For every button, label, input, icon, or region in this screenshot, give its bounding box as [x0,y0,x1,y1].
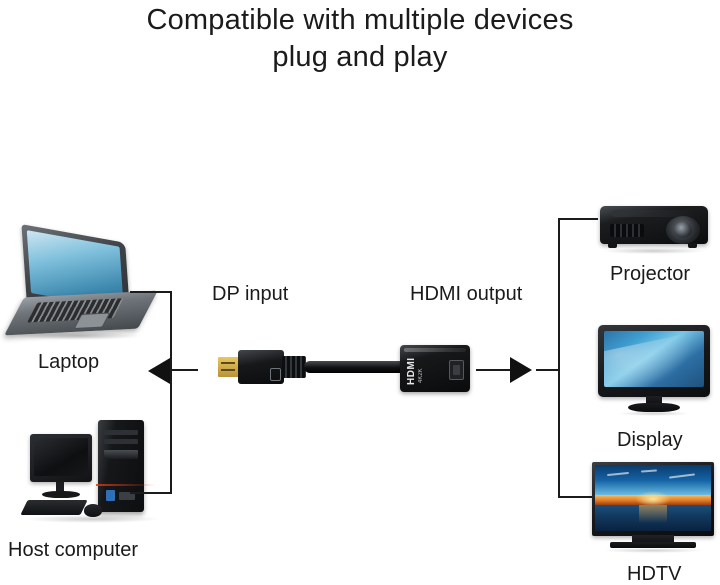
displayport-logo-icon [270,368,281,381]
adapter-spec-text: 4K2K [418,355,428,383]
hdmi-female-port [449,360,464,380]
monitor-wallpaper-highlight [604,331,704,387]
projector-shadow [602,248,706,254]
desktop-monitor-foot [42,491,80,498]
arrow-right-icon [510,357,532,383]
displayport-plug [238,350,284,384]
desktop-monitor-screen [34,438,88,476]
diagram-canvas: Compatible with multiple devices plug an… [0,0,720,585]
projector-icon [596,198,714,256]
tower-badge [106,490,115,501]
title-line-2: plug and play [0,39,720,76]
projector-vent [610,224,644,237]
tv-screen [595,465,711,531]
tv-bezel [592,462,714,536]
arrow-left-icon [148,358,170,384]
label-hdmi-output: HDMI output [410,282,522,306]
page-title: Compatible with multiple devices plug an… [0,2,720,76]
source-bracket-branch-laptop [130,291,172,293]
tv-shadow [602,548,704,553]
destination-bracket-branch-projector [558,218,598,220]
destination-bracket-vertical [558,218,560,498]
hdmi-adapter-body: HDMI 4K2K [400,345,470,392]
monitor-screen [604,331,704,387]
label-dp-input: DP input [212,282,288,306]
projector-body [600,206,708,244]
adapter-highlight [404,348,466,352]
laptop-keyboard [27,298,124,322]
dp-pin-row [221,362,235,364]
title-line-1: Compatible with multiple devices [0,2,720,39]
monitor-bezel [598,325,710,397]
input-arrow-tail [170,369,198,371]
television-icon [592,462,716,554]
destination-bracket [536,212,598,504]
adapter-cable [304,361,408,373]
cable-strain-relief [282,356,306,378]
desktop-shadow [24,515,160,523]
label-laptop: Laptop [38,350,99,374]
projector-lens-ring [666,216,700,244]
destination-bracket-stem [536,369,560,371]
label-hdtv: HDTV [627,562,681,585]
displayport-contacts [218,357,240,377]
source-bracket-vertical [170,291,172,494]
projector-lens [674,222,692,238]
label-projector: Projector [610,262,690,286]
label-display: Display [617,428,683,452]
source-bracket-branch-host [130,492,172,494]
label-host-computer: Host computer [8,538,138,562]
dp-pin-row [221,369,235,371]
laptop-shadow [18,332,142,340]
desktop-monitor [30,434,92,482]
monitor-icon [596,325,712,417]
source-bracket [130,285,190,500]
monitor-shadow [618,411,690,416]
dp-to-hdmi-adapter: HDMI 4K2K [218,344,493,396]
desktop-keyboard [20,500,87,515]
tv-water-reflection [639,505,667,523]
